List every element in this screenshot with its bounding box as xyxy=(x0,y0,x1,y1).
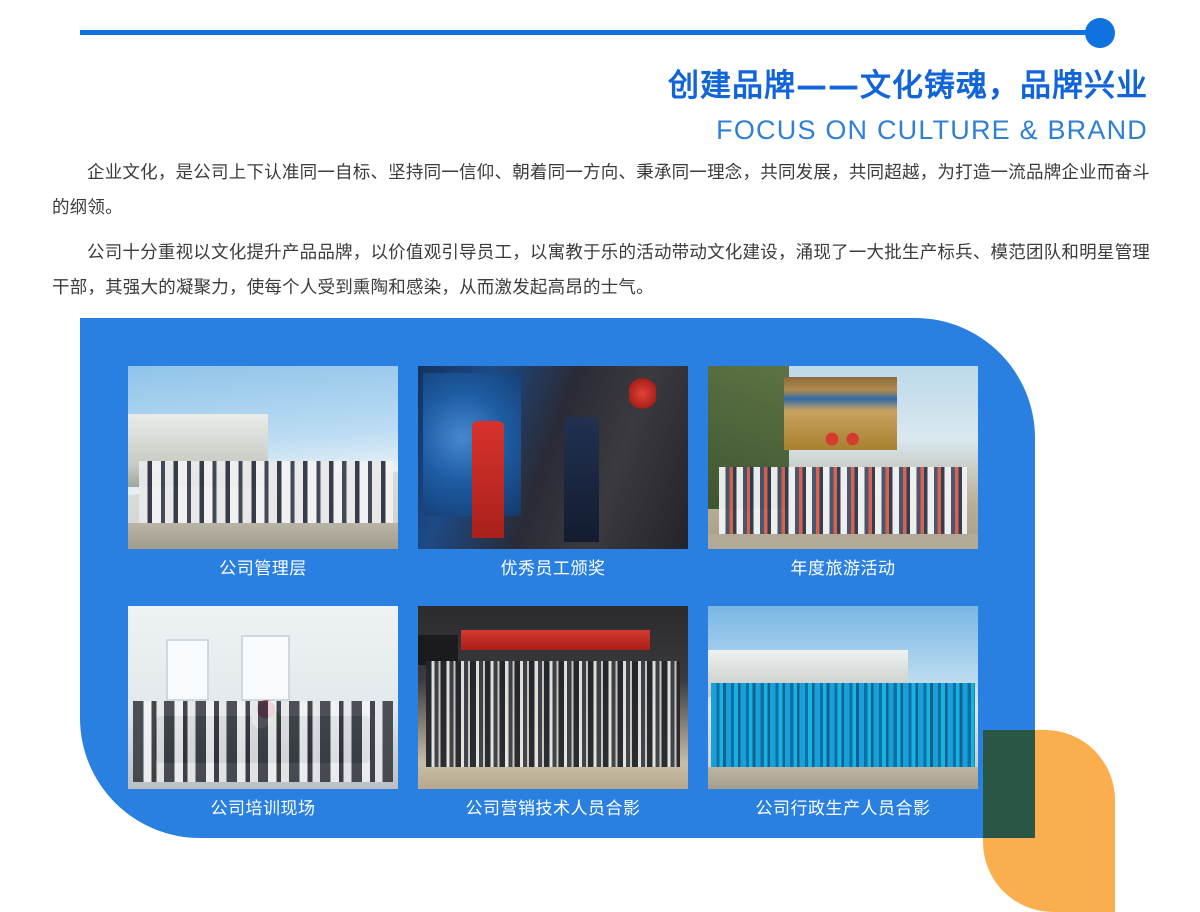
photo-training-session[interactable] xyxy=(128,606,398,789)
paragraph-1: 企业文化，是公司上下认准同一自标、坚持同一信仰、朝着同一方向、秉承同一理念，共同… xyxy=(52,156,1150,226)
page-title-en: FOCUS ON CULTURE & BRAND xyxy=(668,112,1148,148)
gallery-item[interactable]: 公司营销技术人员合影 xyxy=(418,606,688,824)
orange-accent-shape xyxy=(983,730,1115,912)
top-decorative-rule xyxy=(80,30,1100,35)
photo-caption: 公司培训现场 xyxy=(128,794,398,824)
gallery-item[interactable]: 公司培训现场 xyxy=(128,606,398,824)
photo-annual-trip[interactable] xyxy=(708,366,978,549)
gallery-item[interactable]: 年度旅游活动 xyxy=(708,366,978,584)
photo-admin-production-staff[interactable] xyxy=(708,606,978,789)
gallery-item[interactable]: 优秀员工颁奖 xyxy=(418,366,688,584)
photo-caption: 公司行政生产人员合影 xyxy=(708,794,978,824)
top-decorative-dot xyxy=(1085,18,1115,48)
photo-company-management[interactable] xyxy=(128,366,398,549)
gallery-panel: 公司管理层 优秀员工颁奖 年度旅游活动 公司培训现场 xyxy=(80,318,1035,838)
gallery-item[interactable]: 公司管理层 xyxy=(128,366,398,584)
photo-sales-tech-staff[interactable] xyxy=(418,606,688,789)
paragraph-2: 公司十分重视以文化提升产品品牌，以价值观引导员工，以寓教于乐的活动带动文化建设，… xyxy=(52,236,1150,306)
photo-caption: 年度旅游活动 xyxy=(708,554,978,584)
intro-copy: 企业文化，是公司上下认准同一自标、坚持同一信仰、朝着同一方向、秉承同一理念，共同… xyxy=(52,156,1150,316)
photo-grid: 公司管理层 优秀员工颁奖 年度旅游活动 公司培训现场 xyxy=(128,366,994,824)
photo-caption: 公司营销技术人员合影 xyxy=(418,794,688,824)
photo-caption: 公司管理层 xyxy=(128,554,398,584)
page-title-cn: 创建品牌——文化铸魂，品牌兴业 xyxy=(668,66,1148,106)
page-header: 创建品牌——文化铸魂，品牌兴业 FOCUS ON CULTURE & BRAND xyxy=(668,66,1148,148)
photo-employee-award[interactable] xyxy=(418,366,688,549)
gallery-item[interactable]: 公司行政生产人员合影 xyxy=(708,606,978,824)
photo-caption: 优秀员工颁奖 xyxy=(418,554,688,584)
